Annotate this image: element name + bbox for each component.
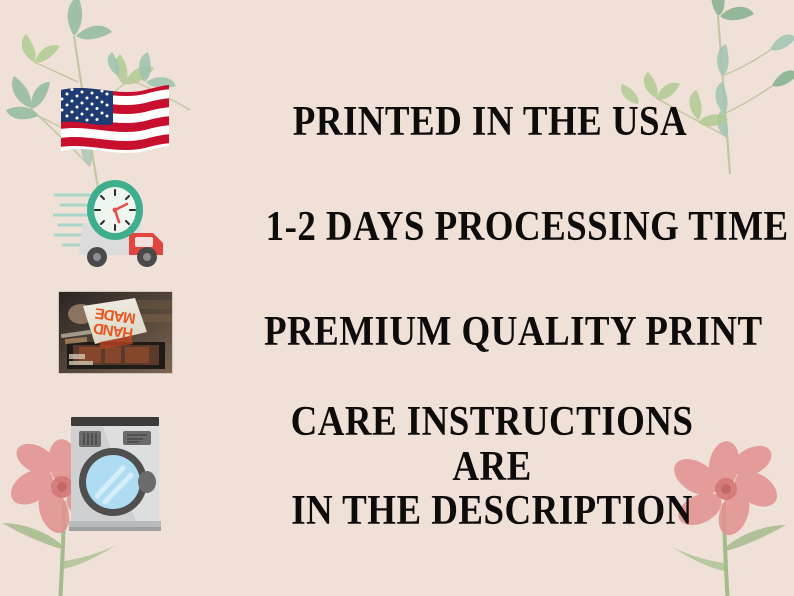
- screen-printing-photo: HAND MADE: [59, 292, 172, 373]
- fast-delivery-clock-truck-icon: [53, 177, 177, 277]
- care-line-1: CARE INSTRUCTIONS ARE: [261, 400, 722, 489]
- usa-flag-icon: [55, 80, 175, 164]
- feature-text-printed-in-usa: PRINTED IN THE USA: [261, 100, 719, 145]
- care-line-2: IN THE DESCRIPTION: [261, 489, 722, 534]
- text-cell: CARE INSTRUCTIONS ARE IN THE DESCRIPTION: [230, 400, 794, 534]
- text-cell: PRINTED IN THE USA: [230, 100, 794, 145]
- feature-text-care-instructions: CARE INSTRUCTIONS ARE IN THE DESCRIPTION: [261, 400, 722, 534]
- icon-cell: [0, 397, 230, 537]
- feature-row-processing-time: 1-2 DAYS PROCESSING TIME: [0, 172, 794, 282]
- feature-text-premium-quality: PREMIUM QUALITY PRINT: [264, 310, 763, 355]
- feature-row-premium-quality: HAND MADE PREMIUM QUALITY PRINT: [0, 280, 794, 385]
- product-info-card: PRINTED IN THE USA: [0, 0, 794, 596]
- text-cell: 1-2 DAYS PROCESSING TIME: [230, 205, 794, 250]
- text-cell: PREMIUM QUALITY PRINT: [230, 310, 794, 355]
- icon-cell: [0, 80, 230, 164]
- feature-text-processing-time: 1-2 DAYS PROCESSING TIME: [266, 205, 789, 250]
- icon-cell: [0, 177, 230, 277]
- washing-machine-icon: [57, 397, 173, 537]
- icon-cell: HAND MADE: [0, 292, 230, 373]
- feature-row-printed-in-usa: PRINTED IN THE USA: [0, 66, 794, 178]
- feature-row-care-instructions: CARE INSTRUCTIONS ARE IN THE DESCRIPTION: [0, 382, 794, 552]
